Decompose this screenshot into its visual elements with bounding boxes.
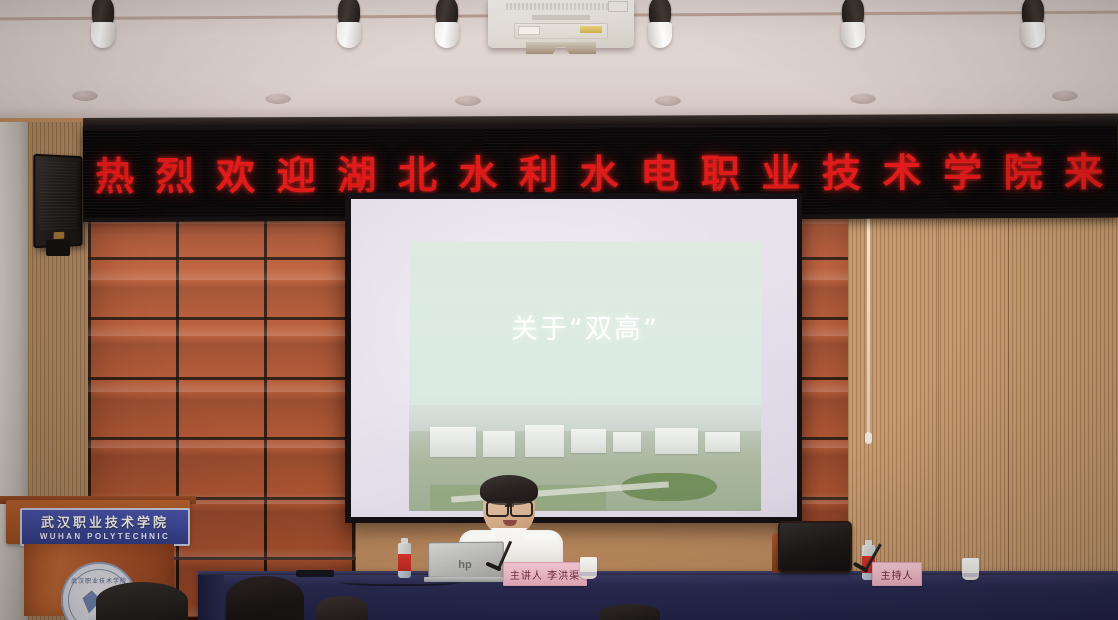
podium-name-en: WUHAN POLYTECHNIC xyxy=(22,532,188,541)
water-bottle xyxy=(398,538,411,578)
photo-building xyxy=(483,431,515,457)
dais-table-side xyxy=(198,575,224,620)
projection-screen: 关于“双高” xyxy=(351,199,797,517)
host-nameplate: 主持人 xyxy=(872,562,922,586)
table-equipment xyxy=(296,570,334,577)
slide-title: 关于“双高” xyxy=(409,307,761,346)
audience-head xyxy=(600,604,660,620)
photo-building xyxy=(525,425,564,457)
chair-backrest xyxy=(778,521,852,573)
ceiling-spotlight-icon xyxy=(432,0,462,48)
photo-building xyxy=(655,428,697,454)
audience-head xyxy=(226,576,304,620)
paper-cup xyxy=(962,558,979,580)
podium-nameplate: 武汉职业技术学院 WUHAN POLYTECHNIC xyxy=(20,508,190,546)
screen-pull-cord[interactable] xyxy=(867,207,870,437)
wall-speaker xyxy=(33,154,82,249)
photo-building xyxy=(571,429,606,453)
ceiling-spotlight-icon xyxy=(1018,0,1048,48)
audience-head xyxy=(96,582,188,620)
ceiling-projector xyxy=(488,0,634,48)
audience-head xyxy=(316,596,368,620)
ceiling-downlight-icon xyxy=(1052,90,1078,101)
ceiling-spotlight-icon xyxy=(334,0,364,48)
podium-front-panel: 武汉职业技术学院 WUHAN POLYTECHNIC xyxy=(6,500,190,544)
podium-name-cn: 武汉职业技术学院 xyxy=(22,512,188,531)
ceiling-spotlight-icon xyxy=(88,0,118,48)
projector-brand-label xyxy=(532,15,590,20)
photo-building xyxy=(430,427,476,457)
photo-building xyxy=(705,432,740,452)
speaker-grille xyxy=(39,160,77,229)
laptop-lid: hp xyxy=(428,542,504,579)
lecture-hall-photo: 热 烈 欢 迎 湖 北 水 利 水 电 职 业 技 术 学 院 来 校 参 访 … xyxy=(0,0,1118,620)
speaker-mount-bracket xyxy=(46,240,70,256)
projector-sticker xyxy=(608,1,628,12)
hp-logo-icon: hp xyxy=(458,559,471,571)
ceiling-downlight-icon xyxy=(850,93,876,104)
speaker-badge-icon xyxy=(53,232,64,239)
wall-seam xyxy=(938,205,939,620)
ceiling-downlight-icon xyxy=(455,95,481,106)
table-cable xyxy=(340,576,460,586)
wall-right-slat-panel xyxy=(848,205,1118,620)
projector-vent xyxy=(506,3,614,10)
glasses-icon xyxy=(486,501,533,513)
ceiling-downlight-icon xyxy=(655,95,681,106)
wall-seam xyxy=(1008,205,1009,620)
host-chair xyxy=(772,521,852,579)
presentation-slide: 关于“双高” xyxy=(409,241,761,511)
projector-amber-strip xyxy=(580,26,602,33)
speaker-nameplate: 主讲人 李洪渠 xyxy=(503,562,587,586)
ceiling-downlight-icon xyxy=(72,90,98,101)
paper-cup xyxy=(580,557,597,579)
ceiling-spotlight-icon xyxy=(645,0,675,48)
projector-small-sticker xyxy=(518,26,540,35)
ceiling-spotlight-icon xyxy=(838,0,868,48)
photo-building xyxy=(613,432,641,452)
ceiling-downlight-icon xyxy=(265,93,291,104)
